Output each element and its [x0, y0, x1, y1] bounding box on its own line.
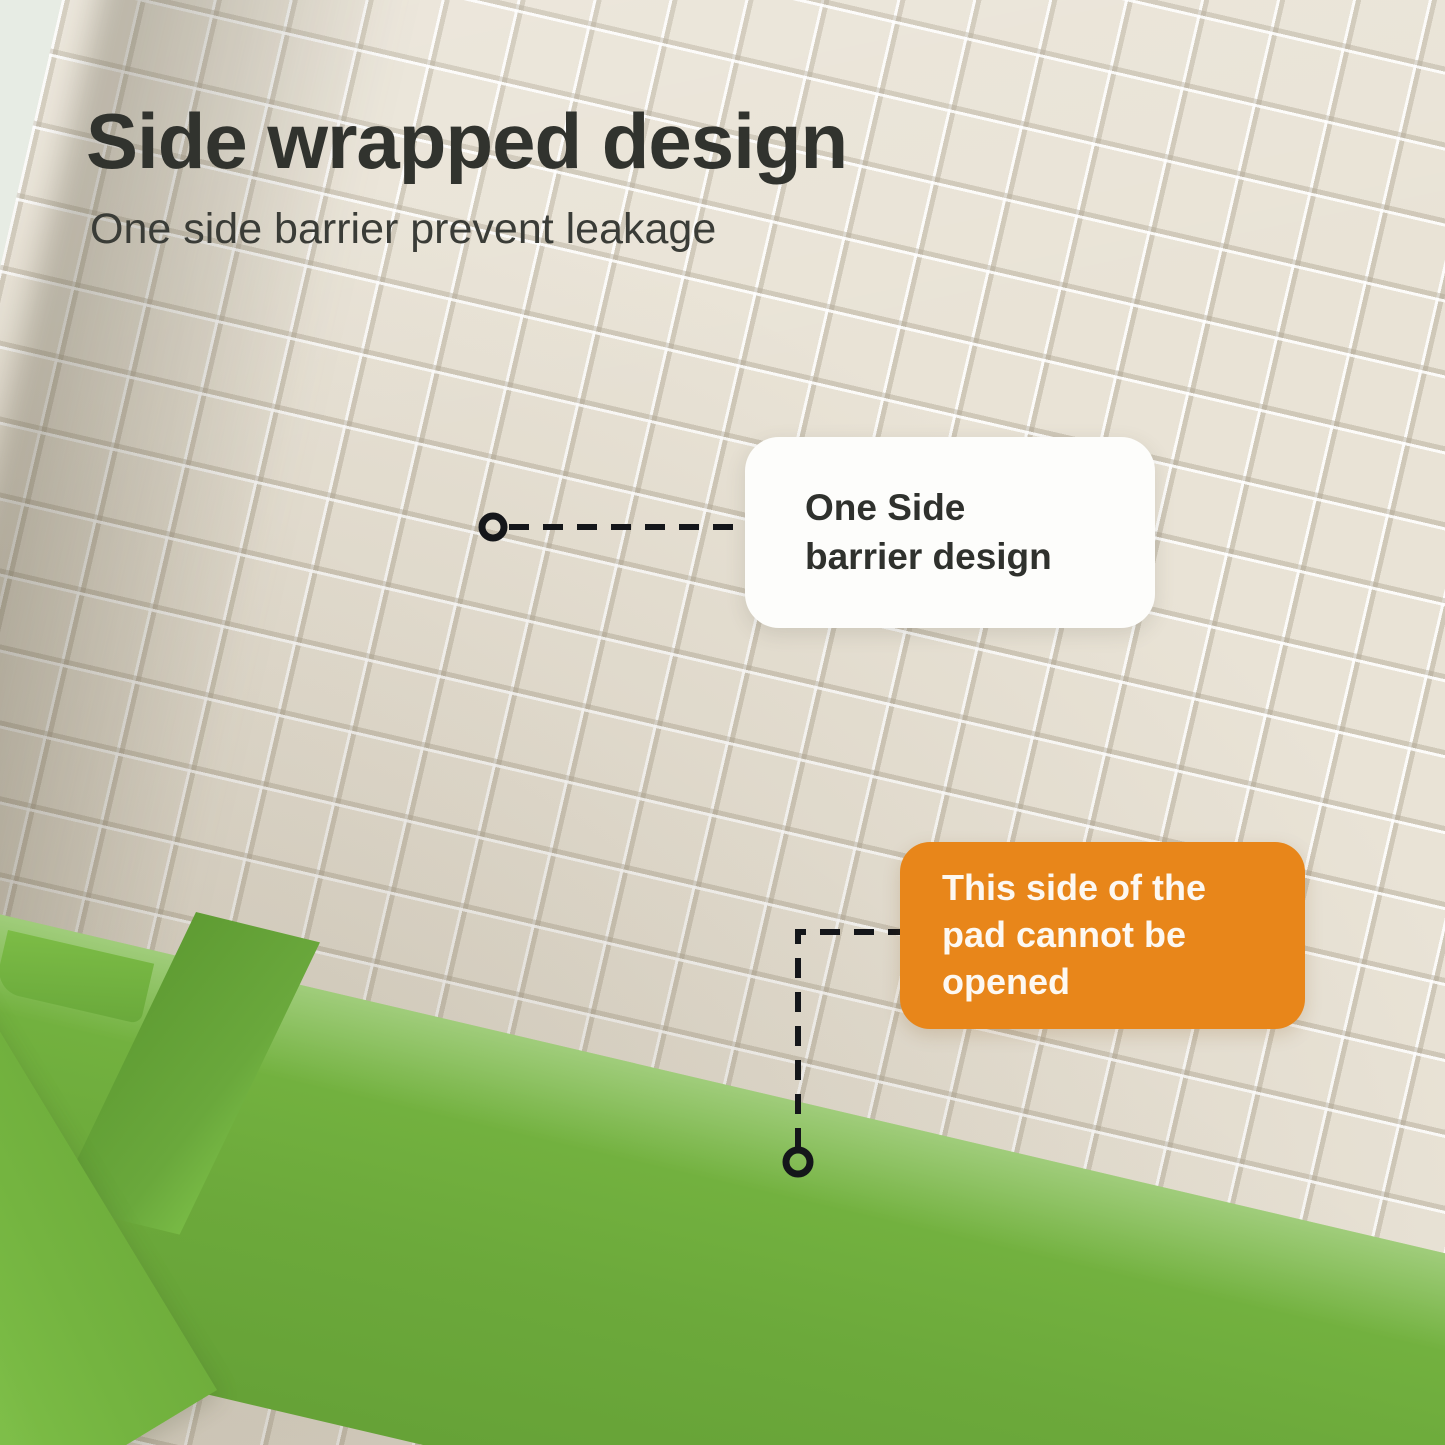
page-title: Side wrapped design: [86, 96, 847, 187]
callout-line-1: This side of the: [942, 865, 1206, 912]
callout-one-side-barrier: One Side barrier design: [745, 437, 1155, 628]
callout-cannot-be-opened: This side of the pad cannot be opened: [900, 842, 1305, 1029]
callout-text: One Side barrier design: [745, 484, 1052, 582]
callout-line-2: pad cannot be: [942, 912, 1206, 959]
callout-line-2: barrier design: [805, 533, 1052, 582]
product-feature-image: Side wrapped design One side barrier pre…: [0, 0, 1445, 1445]
callout-text: This side of the pad cannot be opened: [900, 865, 1206, 1005]
callout-line-1: One Side: [805, 484, 1052, 533]
page-subtitle: One side barrier prevent leakage: [90, 205, 716, 254]
callout-line-3: opened: [942, 959, 1206, 1006]
